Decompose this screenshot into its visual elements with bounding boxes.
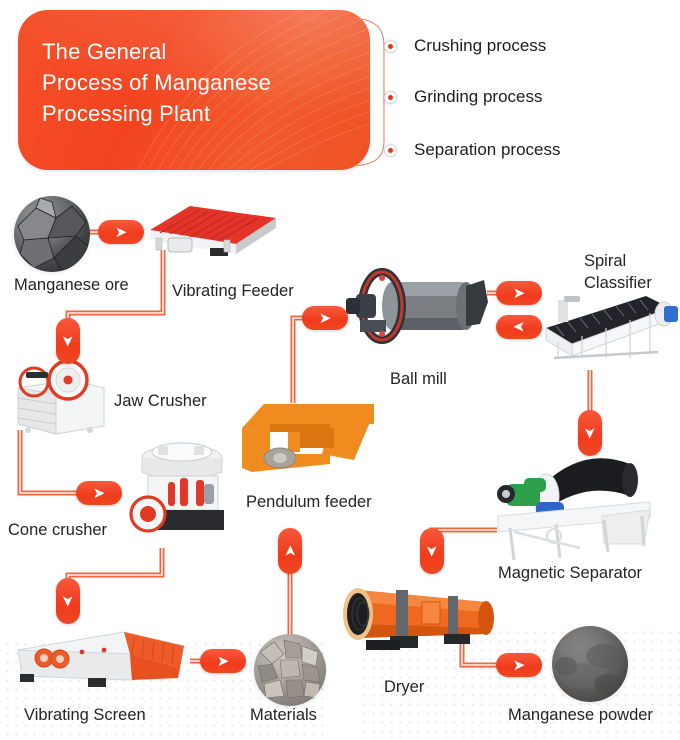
process-bullet-crushing (384, 40, 397, 53)
page-title: The General Process of Manganese Process… (42, 36, 354, 129)
label-dryer: Dryer (384, 676, 424, 698)
cone-crusher-illustration (118, 432, 242, 544)
vibrating-feeder-illustration (132, 196, 282, 262)
header-banner: The General Process of Manganese Process… (18, 10, 370, 170)
arrow-vibrating-screen-to-materials: ➤ (200, 649, 246, 673)
arrow-down-icon: ➤ (409, 539, 455, 563)
arrow-down-icon: ➤ (567, 421, 613, 445)
label-magnetic-separator: Magnetic Separator (498, 562, 642, 584)
arrow-down-icon: ➤ (45, 329, 91, 353)
label-cone-crusher: Cone crusher (8, 519, 107, 541)
arrow-right-icon: ➤ (496, 653, 542, 677)
label-ball-mill: Ball mill (390, 368, 447, 390)
process-bullet-separation (384, 144, 397, 157)
spiral-classifier-image (538, 282, 680, 368)
arrow-jaw-crusher-to-cone-crusher: ➤ (76, 481, 122, 505)
label-materials: Materials (250, 704, 317, 726)
label-vibrating-feeder: Vibrating Feeder (172, 280, 294, 302)
magnetic-separator-illustration (484, 440, 660, 562)
arrow-right-icon: ➤ (496, 281, 542, 305)
dryer-illustration (336, 572, 508, 658)
arrow-right-icon: ➤ (98, 220, 144, 244)
manganese-powder-image (552, 626, 628, 702)
arrow-dryer-to-manganese-powder: ➤ (496, 653, 542, 677)
arrow-spiral-classifier-to-magnetic-separator: ➤ (578, 410, 602, 456)
process-label-grinding: Grinding process (414, 85, 543, 109)
arrow-materials-to-pendulum-feeder: ➤ (278, 528, 302, 574)
arrow-spiral-classifier-to-ball-mill: ➤ (496, 315, 542, 339)
arrow-right-icon: ➤ (302, 306, 348, 330)
arrow-magnetic-separator-to-dryer: ➤ (420, 528, 444, 574)
ore-rocks-illustration (14, 196, 90, 272)
arrow-ball-mill-to-spiral-classifier: ➤ (496, 281, 542, 305)
materials-image (254, 634, 326, 706)
pendulum-feeder-image (234, 398, 380, 482)
label-manganese-ore: Manganese ore (14, 274, 129, 296)
arrow-right-icon: ➤ (76, 481, 122, 505)
gravel-illustration (254, 634, 326, 706)
process-label-separation: Separation process (414, 138, 560, 162)
label-spiral-classifier: Spiral Classifier (584, 250, 652, 294)
ball-mill-image (338, 262, 492, 350)
vibrating-screen-illustration (12, 624, 190, 696)
vibrating-screen-image (12, 624, 190, 696)
label-jaw-crusher: Jaw Crusher (114, 390, 207, 412)
arrow-down-icon: ➤ (45, 589, 91, 613)
ball-mill-illustration (338, 262, 492, 350)
jaw-crusher-illustration (8, 360, 118, 438)
label-manganese-powder: Manganese powder (508, 704, 653, 726)
powder-illustration (552, 626, 628, 702)
arrow-left-icon: ➤ (496, 315, 542, 339)
process-bullet-grinding (384, 91, 397, 104)
magnetic-separator-image (484, 440, 660, 562)
arrow-right-icon: ➤ (200, 649, 246, 673)
vibrating-feeder-image (132, 196, 282, 262)
spiral-classifier-illustration (538, 282, 680, 368)
flowchart-canvas: The General Process of Manganese Process… (0, 0, 680, 740)
arrow-vibrating-feeder-to-jaw-crusher: ➤ (56, 318, 80, 364)
pendulum-feeder-illustration (234, 398, 380, 482)
arrow-up-icon: ➤ (267, 539, 313, 563)
manganese-ore-image (14, 196, 90, 272)
process-label-crushing: Crushing process (414, 34, 546, 58)
dryer-image (336, 572, 508, 658)
label-vibrating-screen: Vibrating Screen (24, 704, 146, 726)
label-pendulum-feeder: Pendulum feeder (246, 491, 372, 513)
jaw-crusher-image (8, 360, 118, 438)
arrow-manganese-ore-to-vibrating-feeder: ➤ (98, 220, 144, 244)
cone-crusher-image (118, 432, 242, 544)
arrow-cone-crusher-to-vibrating-screen: ➤ (56, 578, 80, 624)
arrow-pendulum-feeder-to-ball-mill: ➤ (302, 306, 348, 330)
